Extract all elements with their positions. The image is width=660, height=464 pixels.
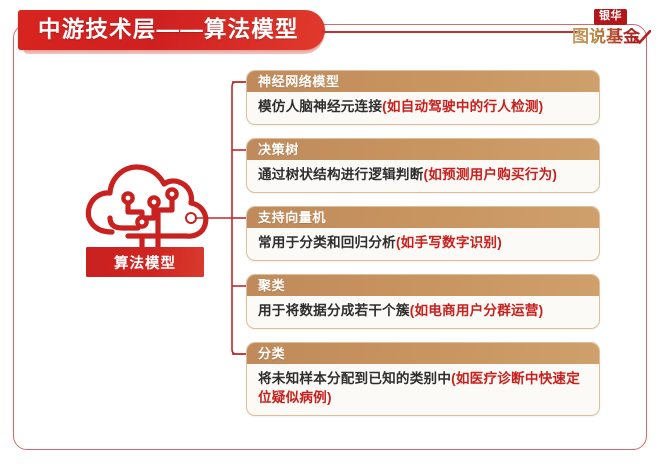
card-clustering[interactable]: 聚类 用于将数据分成若干个簇(如电商用户分群运营) <box>246 274 600 329</box>
card-body: 用于将数据分成若干个簇(如电商用户分群运营) <box>247 296 599 328</box>
logo-series-name: 图说基金 <box>572 28 640 45</box>
card-header: 支持向量机 <box>247 207 599 228</box>
card-body-main: 模仿人脑神经元连接 <box>258 99 382 114</box>
card-body-example: (如手写数字识别) <box>396 235 502 250</box>
card-body-example: (如预测用户购买行为) <box>424 167 558 182</box>
card-title: 决策树 <box>258 143 299 156</box>
card-body: 将未知样本分配到已知的类别中(如医疗诊断中快速定位疑似病例) <box>247 364 599 415</box>
header: 中游技术层——算法模型 银华 图说基金 <box>0 0 660 62</box>
node-label-banner: 算法模型 <box>86 247 204 277</box>
card-title: 支持向量机 <box>258 211 326 224</box>
check-icon <box>634 30 651 45</box>
card-body-main: 将未知样本分配到已知的类别中 <box>258 371 451 386</box>
node-label-text: 算法模型 <box>114 252 176 273</box>
card-header: 聚类 <box>247 275 599 296</box>
card-title: 分类 <box>258 347 285 360</box>
card-neural-network[interactable]: 神经网络模型 模仿人脑神经元连接(如自动驾驶中的行人检测) <box>246 70 600 125</box>
card-header: 分类 <box>247 343 599 364</box>
card-decision-tree[interactable]: 决策树 通过树状结构进行逻辑判断(如预测用户购买行为) <box>246 138 600 193</box>
title-banner: 中游技术层——算法模型 <box>18 10 325 50</box>
card-body: 常用于分类和回归分析(如手写数字识别) <box>247 228 599 260</box>
card-body-main: 通过树状结构进行逻辑判断 <box>258 167 424 182</box>
card-body-main: 常用于分类和回归分析 <box>258 235 396 250</box>
card-classification[interactable]: 分类 将未知样本分配到已知的类别中(如医疗诊断中快速定位疑似病例) <box>246 342 600 416</box>
card-title: 神经网络模型 <box>258 75 340 88</box>
card-header: 神经网络模型 <box>247 71 599 92</box>
card-body-example: (如电商用户分群运营) <box>410 303 544 318</box>
card-header: 决策树 <box>247 139 599 160</box>
page-title: 中游技术层——算法模型 <box>38 19 299 42</box>
card-body: 模仿人脑神经元连接(如自动驾驶中的行人检测) <box>247 92 599 124</box>
vertical-spine <box>232 82 245 354</box>
brand-logo: 银华 图说基金 <box>572 9 650 53</box>
card-support-vector-machine[interactable]: 支持向量机 常用于分类和回归分析(如手写数字识别) <box>246 206 600 261</box>
card-body: 通过树状结构进行逻辑判断(如预测用户购买行为) <box>247 160 599 192</box>
infographic-page: 中游技术层——算法模型 银华 图说基金 <box>0 0 660 464</box>
card-body-main: 用于将数据分成若干个簇 <box>258 303 410 318</box>
card-title: 聚类 <box>258 279 285 292</box>
card-body-example: (如自动驾驶中的行人检测) <box>382 99 543 114</box>
logo-brand-name: 银华 <box>594 9 627 25</box>
header-divider-line <box>322 31 580 33</box>
